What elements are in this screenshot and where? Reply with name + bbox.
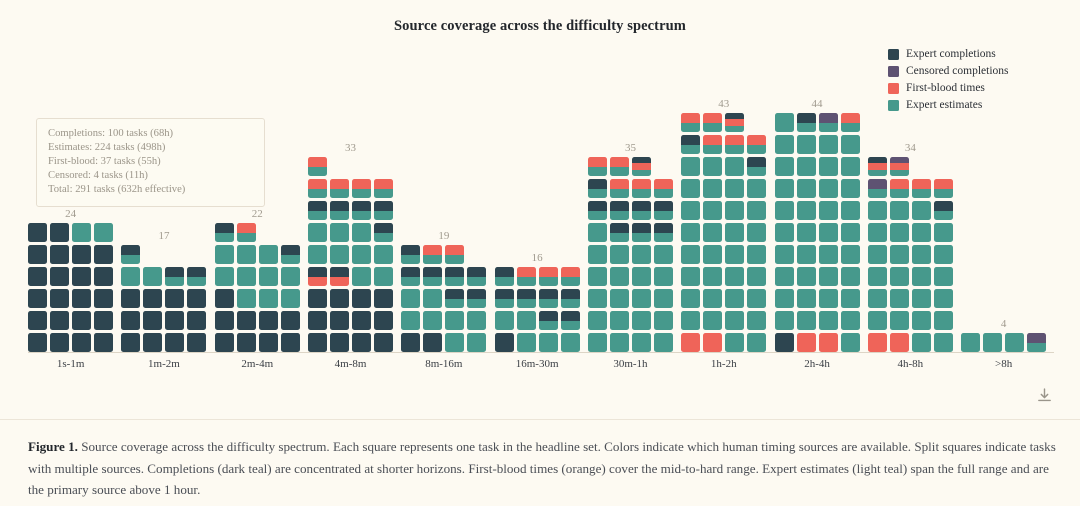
waffle-cell[interactable] [143,289,162,308]
waffle-cell[interactable] [401,333,420,352]
waffle-cell[interactable] [374,179,393,198]
waffle-cell[interactable] [912,289,931,308]
waffle-cell[interactable] [681,311,700,330]
waffle-cell[interactable] [352,245,371,264]
waffle-cell[interactable] [775,113,794,132]
waffle-cell-segment-estimates [330,211,349,221]
waffle-cell[interactable] [797,311,816,330]
waffle-cell[interactable] [94,245,113,264]
waffle-cell[interactable] [703,311,722,330]
waffle-cell[interactable] [819,333,838,352]
waffle-cell[interactable] [868,201,887,220]
waffle-cell[interactable] [775,135,794,154]
waffle-cell[interactable] [50,267,69,286]
waffle-cell[interactable] [890,201,909,220]
waffle-cell[interactable] [143,333,162,352]
waffle-cell[interactable] [703,157,722,176]
waffle-cell[interactable] [401,267,420,286]
waffle-cell[interactable] [467,289,486,308]
waffle-cell[interactable] [259,245,278,264]
waffle-cell[interactable] [72,245,91,264]
waffle-cell[interactable] [561,333,580,352]
waffle-cell[interactable] [165,267,184,286]
waffle-cell[interactable] [610,179,629,198]
waffle-cell[interactable] [215,333,234,352]
waffle-cell[interactable] [588,179,607,198]
waffle-cell[interactable] [143,311,162,330]
waffle-cell[interactable] [237,333,256,352]
waffle-cell[interactable] [868,245,887,264]
waffle-cell[interactable] [94,333,113,352]
waffle-cell[interactable] [610,333,629,352]
waffle-cell[interactable] [259,289,278,308]
waffle-cell[interactable] [747,135,766,154]
waffle-cell[interactable] [352,201,371,220]
waffle-cell[interactable] [588,333,607,352]
waffle-cell[interactable] [445,267,464,286]
waffle-cell[interactable] [308,333,327,352]
waffle-cell[interactable] [681,157,700,176]
waffle-cell[interactable] [654,267,673,286]
waffle-cell[interactable] [703,245,722,264]
waffle-cell-segment-estimates [215,233,234,243]
waffle-cell[interactable] [352,289,371,308]
waffle-cell[interactable] [890,157,909,176]
waffle-cell[interactable] [775,311,794,330]
waffle-cell[interactable] [517,333,536,352]
waffle-cell[interactable] [797,179,816,198]
waffle-cell[interactable] [819,113,838,132]
waffle-cell[interactable] [841,157,860,176]
waffle-cell[interactable] [819,245,838,264]
column-count-label: 43 [718,99,729,110]
waffle-cell[interactable] [259,333,278,352]
waffle-cell[interactable] [610,311,629,330]
waffle-cell[interactable] [632,201,651,220]
waffle-cell[interactable] [28,311,47,330]
waffle-cell[interactable] [819,179,838,198]
waffle-cell[interactable] [401,311,420,330]
waffle-cell[interactable] [330,289,349,308]
waffle-cell[interactable] [165,289,184,308]
waffle-cell[interactable] [654,311,673,330]
waffle-cell[interactable] [934,267,953,286]
waffle-cell[interactable] [841,135,860,154]
waffle-cell[interactable] [561,289,580,308]
waffle-cell[interactable] [703,113,722,132]
waffle-cell[interactable] [912,201,931,220]
waffle-cell[interactable] [467,311,486,330]
waffle-cell[interactable] [28,289,47,308]
waffle-cell[interactable] [588,311,607,330]
waffle-cell[interactable] [237,267,256,286]
waffle-cell[interactable] [890,289,909,308]
waffle-cell[interactable] [610,157,629,176]
waffle-cell[interactable] [517,311,536,330]
waffle-cell[interactable] [215,311,234,330]
waffle-cell[interactable] [588,201,607,220]
waffle-cell[interactable] [330,223,349,242]
waffle-cell[interactable] [187,333,206,352]
waffle-cell[interactable] [841,179,860,198]
waffle-cell[interactable] [841,311,860,330]
waffle-cell[interactable] [215,245,234,264]
waffle-cell[interactable] [445,289,464,308]
waffle-cell[interactable] [747,245,766,264]
waffle-cell[interactable] [588,267,607,286]
waffle-cell[interactable] [308,311,327,330]
waffle-cell[interactable] [72,223,91,242]
waffle-cell[interactable] [725,135,744,154]
waffle-cell[interactable] [841,245,860,264]
waffle-cell[interactable] [237,289,256,308]
waffle-cell[interactable] [747,179,766,198]
waffle-cell[interactable] [50,245,69,264]
waffle-cell[interactable] [654,201,673,220]
waffle-cell[interactable] [72,311,91,330]
waffle-cell[interactable] [868,333,887,352]
waffle-cell[interactable] [654,333,673,352]
waffle-cell[interactable] [725,289,744,308]
waffle-cell[interactable] [187,289,206,308]
waffle-cell[interactable] [797,113,816,132]
waffle-cell[interactable] [681,113,700,132]
waffle-cell-segment-estimates [747,245,766,264]
waffle-cell[interactable] [561,267,580,286]
waffle-row [868,289,953,308]
waffle-cell[interactable] [775,267,794,286]
waffle-cell[interactable] [517,267,536,286]
waffle-cell[interactable] [775,245,794,264]
waffle-cell[interactable] [747,289,766,308]
waffle-cell[interactable] [50,333,69,352]
waffle-cell[interactable] [215,267,234,286]
waffle-cell[interactable] [215,289,234,308]
waffle-cell[interactable] [72,333,91,352]
waffle-cell[interactable] [495,267,514,286]
waffle-cell[interactable] [610,223,629,242]
waffle-cell[interactable] [890,267,909,286]
waffle-cell[interactable] [725,201,744,220]
waffle-cell[interactable] [681,245,700,264]
waffle-cell[interactable] [121,245,140,264]
waffle-cell[interactable] [610,201,629,220]
waffle-cell[interactable] [868,157,887,176]
waffle-cell[interactable] [934,311,953,330]
waffle-cell[interactable] [797,135,816,154]
waffle-cell[interactable] [495,289,514,308]
waffle-cell[interactable] [215,223,234,242]
waffle-cell[interactable] [912,179,931,198]
waffle-cell[interactable] [281,245,300,264]
waffle-cell[interactable] [308,201,327,220]
waffle-cell[interactable] [725,179,744,198]
waffle-cell[interactable] [259,267,278,286]
waffle-cell[interactable] [747,333,766,352]
waffle-cell[interactable] [912,245,931,264]
waffle-cell[interactable] [841,113,860,132]
waffle-cell[interactable] [934,289,953,308]
waffle-cell[interactable] [725,311,744,330]
waffle-cell[interactable] [632,179,651,198]
waffle-cell[interactable] [797,245,816,264]
waffle-cell[interactable] [28,245,47,264]
waffle-cell-segment-estimates [330,223,349,242]
waffle-cell[interactable] [121,267,140,286]
waffle-cell[interactable] [28,223,47,242]
waffle-cell[interactable] [983,333,1002,352]
waffle-cell[interactable] [841,223,860,242]
waffle-cell[interactable] [588,289,607,308]
waffle-cell[interactable] [747,267,766,286]
waffle-cell[interactable] [819,135,838,154]
waffle-cell[interactable] [632,311,651,330]
waffle-cell[interactable] [165,333,184,352]
waffle-cell-segment-firstblood [330,179,349,189]
waffle-cell[interactable] [841,333,860,352]
waffle-cell[interactable] [890,179,909,198]
waffle-cell[interactable] [281,289,300,308]
waffle-cell[interactable] [841,201,860,220]
waffle-cell[interactable] [703,333,722,352]
waffle-cell[interactable] [797,289,816,308]
waffle-cell[interactable] [681,223,700,242]
waffle-cell[interactable] [912,223,931,242]
waffle-cell[interactable] [797,267,816,286]
waffle-cell[interactable] [797,201,816,220]
waffle-cell[interactable] [330,201,349,220]
waffle-cell[interactable] [890,245,909,264]
waffle-cell[interactable] [259,311,278,330]
waffle-cell[interactable] [374,201,393,220]
waffle-cell[interactable] [539,311,558,330]
waffle-cell[interactable] [610,289,629,308]
waffle-cell[interactable] [912,267,931,286]
waffle-cell[interactable] [819,311,838,330]
waffle-cell[interactable] [775,157,794,176]
waffle-cell[interactable] [868,267,887,286]
waffle-cell[interactable] [890,223,909,242]
waffle-cell[interactable] [775,179,794,198]
waffle-cell[interactable] [423,333,442,352]
waffle-cell[interactable] [330,245,349,264]
waffle-cell[interactable] [28,267,47,286]
waffle-cell[interactable] [890,333,909,352]
waffle-cell[interactable] [374,333,393,352]
waffle-cell[interactable] [423,311,442,330]
waffle-cell[interactable] [819,157,838,176]
waffle-cell[interactable] [187,311,206,330]
waffle-cell[interactable] [374,223,393,242]
waffle-cell[interactable] [374,311,393,330]
waffle-cell[interactable] [819,289,838,308]
waffle-cell[interactable] [703,201,722,220]
waffle-cell[interactable] [868,223,887,242]
waffle-cell[interactable] [237,245,256,264]
waffle-cell-segment-estimates [703,289,722,308]
waffle-cell[interactable] [352,223,371,242]
waffle-cell[interactable] [539,289,558,308]
waffle-cell[interactable] [1027,333,1046,352]
waffle-cell[interactable] [495,333,514,352]
waffle-cell[interactable] [588,223,607,242]
waffle-cell[interactable] [797,157,816,176]
waffle-cell[interactable] [94,311,113,330]
waffle-cell[interactable] [187,267,206,286]
waffle-cell[interactable] [352,179,371,198]
waffle-cell[interactable] [28,333,47,352]
waffle-cell[interactable] [423,289,442,308]
waffle-cell[interactable] [308,223,327,242]
waffle-cell[interactable] [681,289,700,308]
waffle-cell[interactable] [632,245,651,264]
waffle-cell[interactable] [819,201,838,220]
waffle-cell[interactable] [374,289,393,308]
waffle-cell[interactable] [681,267,700,286]
waffle-cell[interactable] [632,267,651,286]
waffle-cell[interactable] [934,333,953,352]
waffle-cell[interactable] [539,333,558,352]
waffle-cell[interactable] [654,223,673,242]
waffle-cell[interactable] [934,245,953,264]
waffle-cell[interactable] [747,201,766,220]
waffle-cell[interactable] [401,245,420,264]
waffle-cell[interactable] [868,311,887,330]
waffle-cell[interactable] [50,311,69,330]
waffle-cell[interactable] [797,333,816,352]
waffle-cell[interactable] [725,223,744,242]
waffle-cell[interactable] [610,245,629,264]
waffle-cell[interactable] [374,267,393,286]
waffle-cell[interactable] [467,333,486,352]
waffle-cell[interactable] [121,311,140,330]
waffle-cell[interactable] [423,267,442,286]
waffle-cell[interactable] [281,311,300,330]
waffle-cell[interactable] [890,311,909,330]
waffle-cell[interactable] [121,289,140,308]
waffle-cell[interactable] [841,289,860,308]
waffle-cell[interactable] [868,289,887,308]
waffle-cell[interactable] [165,311,184,330]
download-icon[interactable] [1032,383,1056,407]
waffle-cell[interactable] [747,311,766,330]
waffle-cell[interactable] [747,157,766,176]
waffle-cell[interactable] [934,179,953,198]
waffle-cell[interactable] [445,245,464,264]
waffle-cell[interactable] [934,201,953,220]
waffle-cell[interactable] [237,223,256,242]
waffle-cell[interactable] [632,223,651,242]
waffle-cell[interactable] [632,333,651,352]
waffle-cell[interactable] [775,223,794,242]
waffle-cell[interactable] [681,333,700,352]
waffle-cell[interactable] [912,333,931,352]
waffle-cell[interactable] [961,333,980,352]
waffle-cell[interactable] [352,333,371,352]
waffle-cell[interactable] [775,333,794,352]
waffle-cell[interactable] [681,201,700,220]
waffle-cell[interactable] [1005,333,1024,352]
waffle-cell[interactable] [308,267,327,286]
waffle-cell[interactable] [703,135,722,154]
waffle-cell[interactable] [50,289,69,308]
waffle-cell[interactable] [401,289,420,308]
waffle-cell[interactable] [725,157,744,176]
waffle-cell[interactable] [703,289,722,308]
waffle-cell[interactable] [797,223,816,242]
waffle-cell[interactable] [725,113,744,132]
waffle-cell[interactable] [308,289,327,308]
waffle-cell[interactable] [423,245,442,264]
waffle-cell[interactable] [775,289,794,308]
waffle-cell[interactable] [561,311,580,330]
waffle-cell[interactable] [308,157,327,176]
waffle-cell[interactable] [495,311,514,330]
waffle-cell[interactable] [94,267,113,286]
waffle-cell[interactable] [775,201,794,220]
waffle-cell[interactable] [445,333,464,352]
waffle-cell[interactable] [725,267,744,286]
waffle-cell[interactable] [588,245,607,264]
waffle-cell[interactable] [352,267,371,286]
waffle-cell[interactable] [654,289,673,308]
waffle-cell[interactable] [330,179,349,198]
waffle-cell[interactable] [703,223,722,242]
waffle-cell[interactable] [841,267,860,286]
waffle-cell[interactable] [517,289,536,308]
waffle-cell[interactable] [94,223,113,242]
waffle-cell[interactable] [610,267,629,286]
waffle-cell[interactable] [539,267,558,286]
waffle-cell[interactable] [330,267,349,286]
waffle-cell[interactable] [703,179,722,198]
waffle-cell[interactable] [72,267,91,286]
waffle-cell[interactable] [143,267,162,286]
waffle-cell[interactable] [50,223,69,242]
waffle-cell[interactable] [819,223,838,242]
waffle-cell[interactable] [703,267,722,286]
waffle-cell[interactable] [281,267,300,286]
waffle-cell[interactable] [934,223,953,242]
waffle-cell[interactable] [654,179,673,198]
waffle-cell[interactable] [308,245,327,264]
waffle-cell[interactable] [681,135,700,154]
waffle-cell[interactable] [72,289,91,308]
waffle-cell[interactable] [819,267,838,286]
waffle-cell[interactable] [725,245,744,264]
waffle-cell[interactable] [912,311,931,330]
waffle-cell[interactable] [121,333,140,352]
waffle-cell[interactable] [588,157,607,176]
waffle-cell[interactable] [308,179,327,198]
waffle-cell[interactable] [681,179,700,198]
waffle-cell[interactable] [330,333,349,352]
waffle-cell[interactable] [237,311,256,330]
waffle-cell[interactable] [747,223,766,242]
waffle-cell[interactable] [330,311,349,330]
waffle-cell[interactable] [352,311,371,330]
waffle-cell[interactable] [632,157,651,176]
waffle-cell[interactable] [654,245,673,264]
waffle-cell[interactable] [445,311,464,330]
waffle-cell[interactable] [632,289,651,308]
waffle-cell[interactable] [868,179,887,198]
waffle-cell[interactable] [725,333,744,352]
waffle-cell[interactable] [467,267,486,286]
waffle-cell[interactable] [281,333,300,352]
waffle-cell[interactable] [94,289,113,308]
waffle-cell[interactable] [374,245,393,264]
